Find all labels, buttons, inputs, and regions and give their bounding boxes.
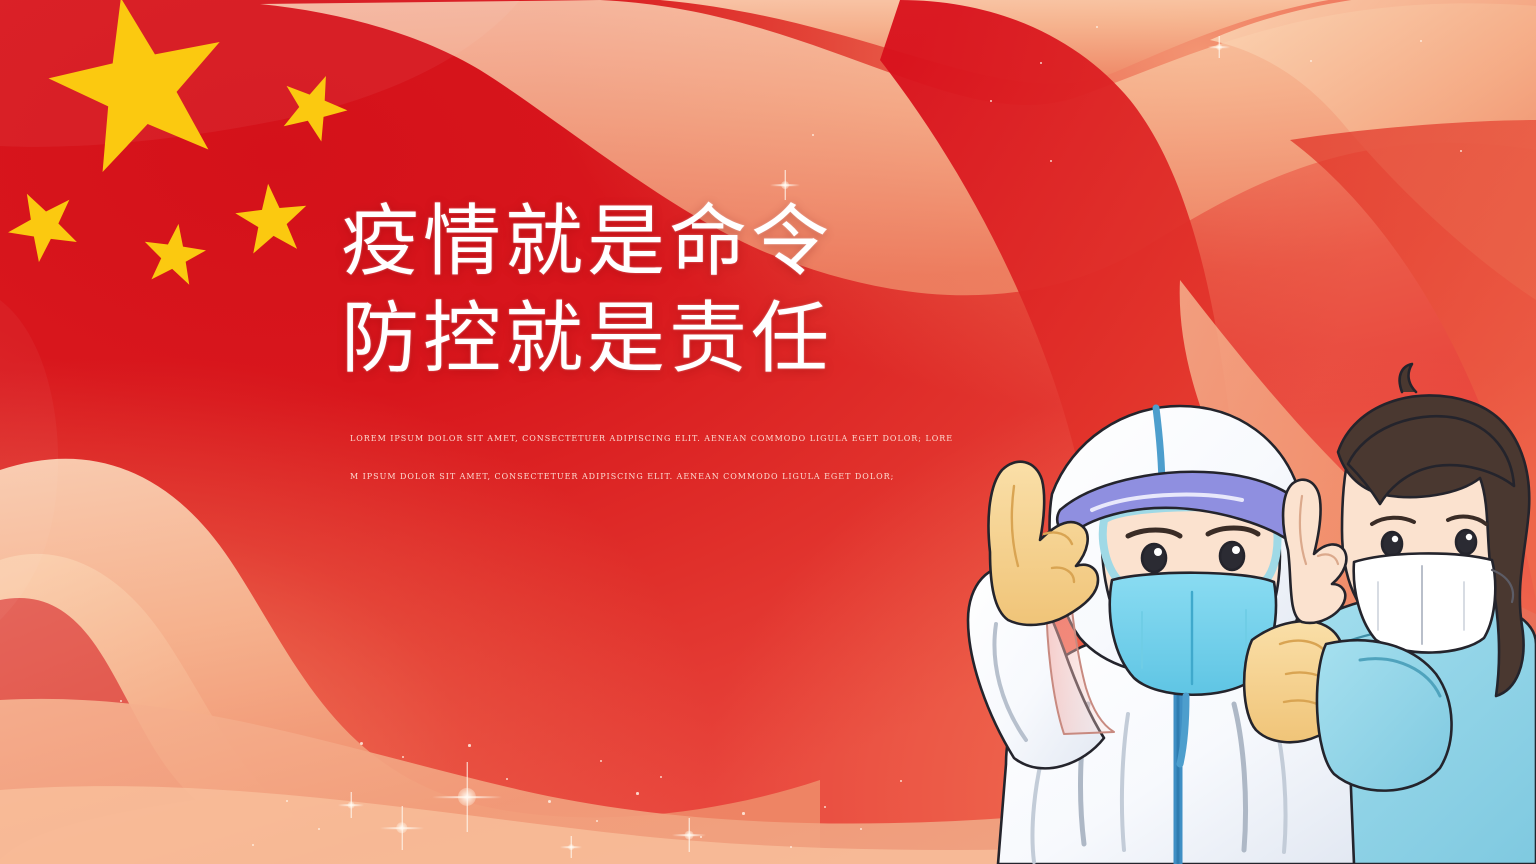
star-small-1 xyxy=(272,64,356,146)
subcopy-line-2: M IPSUM DOLOR SIT AMET, CONSECTETUER ADI… xyxy=(350,458,834,496)
flag-stars xyxy=(0,0,400,330)
medical-workers-illustration xyxy=(856,344,1536,864)
star-small-2 xyxy=(0,177,89,268)
headline-line-1: 疫情就是命令 xyxy=(341,193,961,290)
star-small-3 xyxy=(140,220,209,287)
nurse-hand-on-shield xyxy=(1283,480,1346,623)
poster-canvas: 疫情就是命令 防控就是责任 LOREM IPSUM DOLOR SIT AMET… xyxy=(0,0,1536,864)
subcopy: LOREM IPSUM DOLOR SIT AMET, CONSECTETUER… xyxy=(350,420,834,496)
star-large xyxy=(35,0,241,179)
star-small-4 xyxy=(233,180,311,255)
subcopy-line-1: LOREM IPSUM DOLOR SIT AMET, CONSECTETUER… xyxy=(350,420,834,458)
